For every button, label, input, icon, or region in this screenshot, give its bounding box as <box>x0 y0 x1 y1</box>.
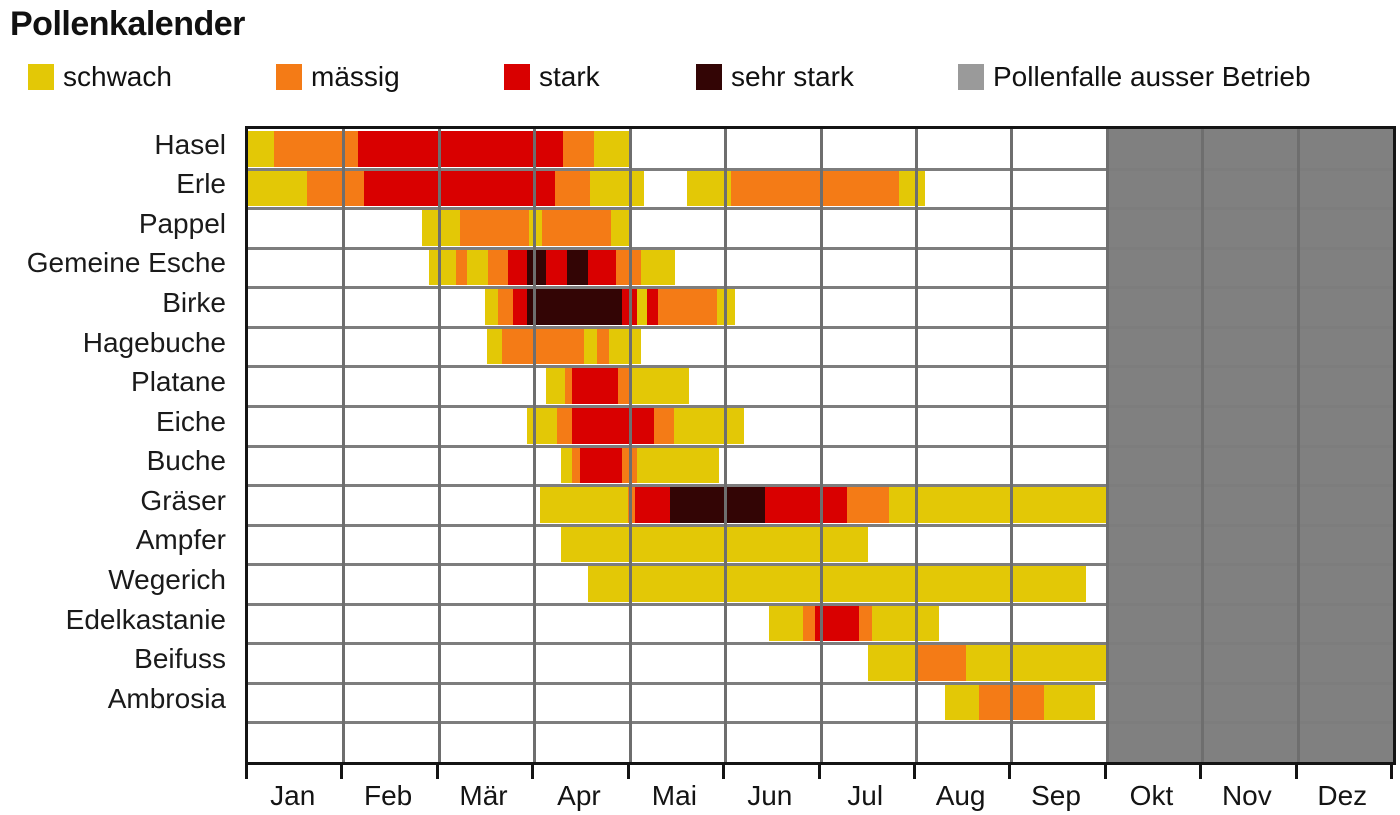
axis-tick <box>913 765 916 779</box>
grid-vline <box>629 129 632 762</box>
legend-label: schwach <box>63 63 172 91</box>
legend-item-1: mässig <box>276 60 400 94</box>
pollen-segment <box>563 131 594 167</box>
legend-label: sehr stark <box>731 63 854 91</box>
pollen-segment <box>460 210 529 246</box>
grid-vline <box>1010 129 1013 762</box>
pollen-segment <box>590 171 644 207</box>
row-label-10: Gräser <box>140 487 226 515</box>
row-label-6: Hagebuche <box>83 329 226 357</box>
month-label-jan: Jan <box>245 779 340 813</box>
axis-tick <box>818 765 821 779</box>
grid-vline <box>724 129 727 762</box>
legend-label: Pollenfalle ausser Betrieb <box>993 63 1311 91</box>
pollen-segment <box>765 487 847 523</box>
pollen-segment <box>1044 685 1096 721</box>
row-label-5: Birke <box>162 289 226 317</box>
pollen-segment <box>868 645 916 681</box>
pollen-segment <box>658 289 717 325</box>
axis-tick <box>1008 765 1011 779</box>
grid-vline <box>342 129 345 762</box>
pollen-segment <box>546 368 565 404</box>
pollen-segment <box>945 685 979 721</box>
legend: schwachmässigstarksehr starkPollenfalle … <box>28 60 1400 96</box>
axis-tick <box>340 765 343 779</box>
pollen-segment <box>594 131 629 167</box>
pollen-segment <box>632 368 689 404</box>
legend-item-0: schwach <box>28 60 172 94</box>
legend-label: stark <box>539 63 600 91</box>
pollen-segment <box>584 329 597 365</box>
month-label-sep: Sep <box>1008 779 1103 813</box>
pollen-segment <box>527 408 558 444</box>
pollen-segment <box>899 171 926 207</box>
legend-swatch-icon <box>276 64 302 90</box>
pollen-segment <box>966 645 1107 681</box>
pollen-segment <box>588 250 617 286</box>
month-label-jun: Jun <box>722 779 817 813</box>
pollen-segment <box>561 448 572 484</box>
pollen-segment <box>513 289 526 325</box>
pollen-segment <box>803 606 814 642</box>
pollen-segment <box>580 448 622 484</box>
pollen-segment <box>670 487 765 523</box>
legend-swatch-icon <box>958 64 984 90</box>
pollen-segment <box>557 408 572 444</box>
pollen-calendar-grid <box>245 126 1396 765</box>
pollen-segment <box>456 250 467 286</box>
pollen-segment <box>429 250 456 286</box>
legend-swatch-icon <box>504 64 530 90</box>
pollen-segment <box>769 606 803 642</box>
page-title: Pollenkalender <box>10 5 245 44</box>
row-label-11: Ampfer <box>136 526 226 554</box>
grid-vline <box>438 129 441 762</box>
pollen-segment <box>307 171 364 207</box>
grid-vline <box>1297 129 1300 762</box>
grid-vline <box>1201 129 1204 762</box>
pollen-segment <box>916 645 966 681</box>
pollen-segment <box>358 131 563 167</box>
pollen-segment <box>555 171 589 207</box>
legend-label: mässig <box>311 63 400 91</box>
pollen-segment <box>635 487 669 523</box>
row-label-12: Wegerich <box>108 566 226 594</box>
axis-tick <box>1104 765 1107 779</box>
axis-tick <box>531 765 534 779</box>
pollen-segment <box>609 329 641 365</box>
pollen-segment <box>498 289 513 325</box>
pollen-segment <box>567 250 588 286</box>
row-label-7: Platane <box>131 368 226 396</box>
month-label-jul: Jul <box>818 779 913 813</box>
pollen-segment <box>467 250 488 286</box>
grid-vline <box>915 129 918 762</box>
month-label-feb: Feb <box>340 779 435 813</box>
pollen-segment <box>248 131 274 167</box>
pollen-segment <box>872 606 939 642</box>
pollen-segment <box>565 368 573 404</box>
month-label-mai: Mai <box>627 779 722 813</box>
axis-tick <box>627 765 630 779</box>
row-label-3: Pappel <box>139 210 226 238</box>
axis-tick <box>436 765 439 779</box>
pollen-segment <box>508 250 527 286</box>
grid-vline <box>820 129 823 762</box>
axis-tick <box>1199 765 1202 779</box>
axis-tick <box>722 765 725 779</box>
row-label-14: Beifuss <box>134 645 226 673</box>
pollen-segment <box>488 250 507 286</box>
row-label-9: Buche <box>147 447 226 475</box>
axis-tick <box>245 765 248 779</box>
pollen-segment <box>597 329 608 365</box>
legend-item-3: sehr stark <box>696 60 854 94</box>
pollen-segment <box>674 408 745 444</box>
pollen-segment <box>248 171 307 207</box>
row-label-13: Edelkastanie <box>66 606 226 634</box>
legend-swatch-icon <box>696 64 722 90</box>
month-label-mär: Mär <box>436 779 531 813</box>
pollen-segment <box>540 487 628 523</box>
pollen-segment <box>527 289 622 325</box>
pollen-segment <box>546 250 567 286</box>
grid-vline <box>533 129 536 762</box>
pollen-segment <box>364 171 555 207</box>
pollen-segment <box>502 329 584 365</box>
legend-item-4: Pollenfalle ausser Betrieb <box>958 60 1311 94</box>
pollen-segment <box>637 289 647 325</box>
pollen-segment <box>485 289 498 325</box>
month-label-aug: Aug <box>913 779 1008 813</box>
row-label-2: Erle <box>176 170 226 198</box>
pollen-segment <box>859 606 872 642</box>
row-label-1: Hasel <box>154 131 226 159</box>
grid-vline <box>1106 129 1109 762</box>
legend-swatch-icon <box>28 64 54 90</box>
pollen-segment <box>637 448 719 484</box>
pollen-segment <box>487 329 502 365</box>
pollen-segment <box>654 408 673 444</box>
month-label-dez: Dez <box>1295 779 1390 813</box>
pollen-segment <box>542 210 611 246</box>
pollen-segment <box>889 487 1107 523</box>
pollen-segment <box>731 171 899 207</box>
pollen-segment <box>572 368 618 404</box>
month-label-okt: Okt <box>1104 779 1199 813</box>
axis-tick <box>1390 765 1393 779</box>
pollen-segment <box>641 250 675 286</box>
row-labels: HaselErlePappelGemeine EscheBirkeHagebuc… <box>0 126 236 765</box>
month-label-nov: Nov <box>1199 779 1294 813</box>
row-label-8: Eiche <box>156 408 226 436</box>
pollen-segment <box>572 408 654 444</box>
axis-tick <box>1295 765 1298 779</box>
legend-item-2: stark <box>504 60 600 94</box>
pollen-segment <box>572 448 580 484</box>
pollen-segment <box>647 289 658 325</box>
pollen-segment <box>847 487 889 523</box>
month-label-apr: Apr <box>531 779 626 813</box>
month-axis: JanFebMärAprMaiJunJulAugSepOktNovDez <box>245 765 1396 815</box>
row-label-4: Gemeine Esche <box>27 249 226 277</box>
row-label-15: Ambrosia <box>108 685 226 713</box>
